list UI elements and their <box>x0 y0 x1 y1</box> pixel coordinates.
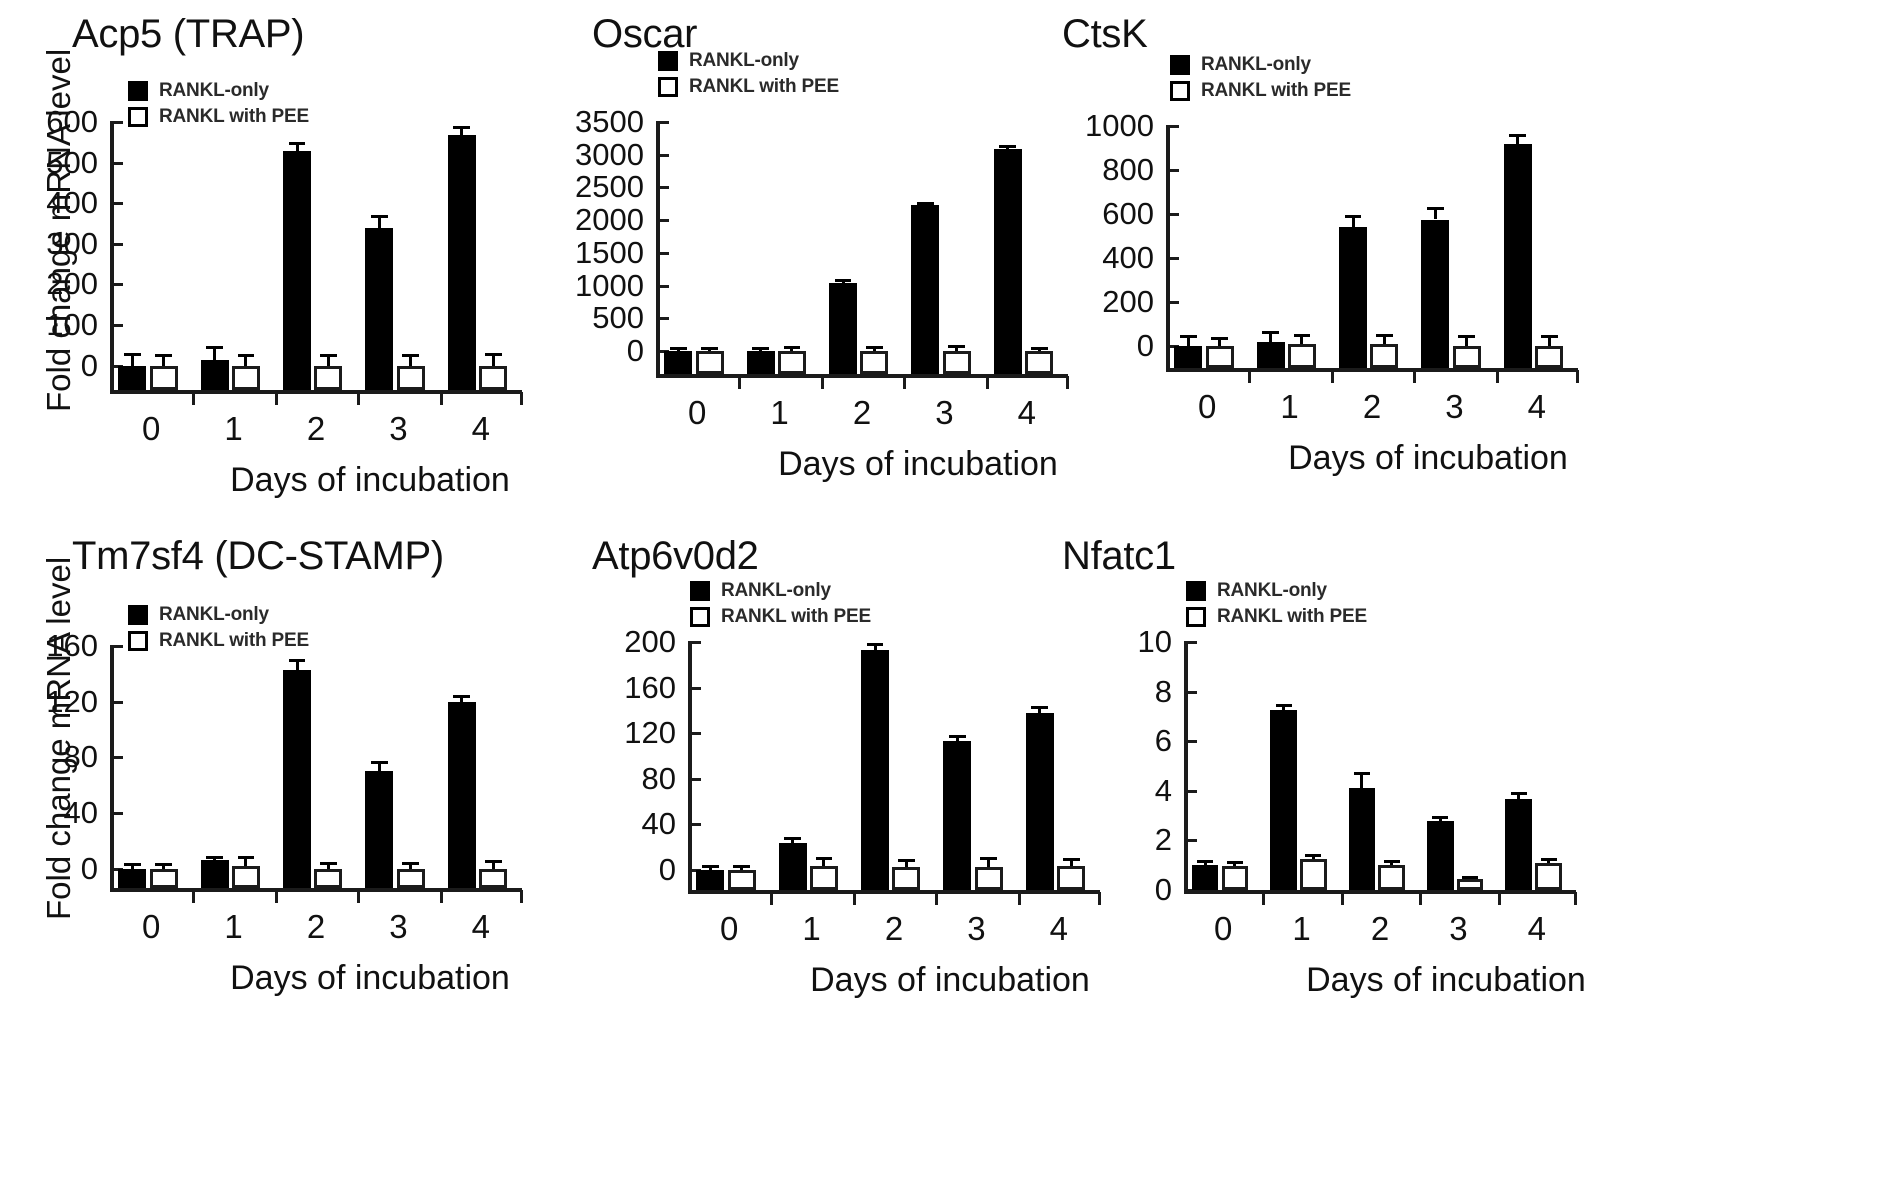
panel-title: Nfatc1 <box>1062 534 1176 578</box>
y-tick-label: 200 <box>576 626 676 657</box>
x-tick <box>520 392 523 405</box>
y-tick-label: 120 <box>576 717 676 748</box>
plot-area: 0408012016020001234 <box>688 642 1100 890</box>
legend-item-2: RANKL with PEE <box>690 604 871 630</box>
x-tick <box>1341 892 1344 905</box>
x-tick <box>1066 376 1069 389</box>
legend-label: RANKL-only <box>159 80 269 102</box>
y-tick <box>110 756 123 759</box>
x-tick-label: 3 <box>1419 912 1497 945</box>
y-tick-label: 2000 <box>544 204 644 235</box>
y-tick-label: 0 <box>1054 330 1154 361</box>
error-bar-cap <box>485 860 502 863</box>
x-tick-label: 2 <box>1341 912 1419 945</box>
y-tick-label: 4 <box>1072 775 1172 806</box>
x-tick <box>192 890 195 903</box>
plot-area: 0200400600800100001234 <box>1166 126 1578 368</box>
panel-title: Acp5 (TRAP) <box>72 12 304 56</box>
legend-label: RANKL-only <box>721 580 831 602</box>
error-bar-cap <box>155 354 172 357</box>
y-tick <box>110 645 123 648</box>
y-tick-label: 3500 <box>544 106 644 137</box>
x-axis-label: Days of incubation <box>170 462 570 498</box>
y-axis-line <box>110 646 114 888</box>
legend-swatch-filled-icon <box>128 605 148 625</box>
error-bar-cap <box>898 859 915 862</box>
x-tick-label: 4 <box>986 396 1068 429</box>
x-tick-label: 1 <box>1262 912 1340 945</box>
y-tick-label: 0 <box>544 335 644 366</box>
error-bar-cap <box>155 863 172 866</box>
legend-item-1: RANKL-only <box>690 578 871 604</box>
x-tick <box>275 890 278 903</box>
y-tick <box>688 732 701 735</box>
x-tick-label: 2 <box>853 912 935 945</box>
bar-rankl-only <box>994 149 1022 374</box>
bar-rankl-with-pee <box>1222 866 1249 890</box>
x-tick-label: 2 <box>275 412 357 445</box>
y-axis-line <box>1166 126 1170 368</box>
y-tick <box>110 701 123 704</box>
y-tick-label: 500 <box>544 302 644 333</box>
y-tick-label: 120 <box>0 686 98 717</box>
bar-rankl-only <box>1339 227 1367 368</box>
legend-label: RANKL-only <box>1201 54 1311 76</box>
bar-rankl-with-pee <box>1535 863 1562 890</box>
legend-label: RANKL-only <box>689 50 799 72</box>
bar-rankl-with-pee <box>150 869 178 888</box>
error-bar-cap <box>784 346 801 349</box>
bar-rankl-only <box>1427 821 1454 890</box>
legend-swatch-filled-icon <box>1186 581 1206 601</box>
x-tick <box>738 376 741 389</box>
x-axis-line <box>1184 890 1576 894</box>
y-tick-label: 200 <box>0 268 98 299</box>
error-bar-cap <box>1211 337 1228 340</box>
error-bar-cap <box>320 862 337 865</box>
legend-item-1: RANKL-only <box>658 48 839 74</box>
chart-legend: RANKL-onlyRANKL with PEE <box>690 578 871 630</box>
error-bar-cap <box>670 347 687 350</box>
bar-rankl-only <box>118 869 146 888</box>
bar-rankl-with-pee <box>728 870 756 890</box>
bar-rankl-only <box>365 228 393 390</box>
legend-item-1: RANKL-only <box>1170 52 1351 78</box>
y-tick-label: 10 <box>1072 626 1172 657</box>
x-tick-label: 3 <box>357 910 439 943</box>
legend-label: RANKL with PEE <box>689 76 839 98</box>
panel-title: CtsK <box>1062 12 1147 56</box>
error-bar-cap <box>1541 335 1558 338</box>
bar-rankl-with-pee <box>150 366 178 390</box>
y-tick <box>656 154 669 157</box>
legend-label: RANKL-only <box>1217 580 1327 602</box>
x-tick <box>903 376 906 389</box>
y-tick <box>110 812 123 815</box>
y-tick <box>1166 125 1179 128</box>
bar-rankl-with-pee <box>397 366 425 390</box>
error-bar-cap <box>948 345 965 348</box>
bar-rankl-only <box>365 771 393 888</box>
error-bar-cap <box>402 862 419 865</box>
y-tick <box>110 324 123 327</box>
y-tick-label: 40 <box>576 808 676 839</box>
bar-rankl-with-pee <box>1378 865 1405 890</box>
x-tick <box>1496 370 1499 383</box>
legend-swatch-filled-icon <box>658 51 678 71</box>
error-bar-cap <box>752 347 769 350</box>
y-tick <box>1166 257 1179 260</box>
x-tick-label: 3 <box>1413 390 1495 423</box>
bar-rankl-with-pee <box>1535 346 1563 368</box>
legend-label: RANKL with PEE <box>721 606 871 628</box>
plot-area: 050010001500200025003000350001234 <box>656 122 1068 374</box>
panel-title: Tm7sf4 (DC-STAMP) <box>72 534 444 578</box>
bar-rankl-with-pee <box>778 351 806 374</box>
bar-rankl-with-pee <box>397 869 425 888</box>
y-tick <box>688 641 701 644</box>
error-bar-cap <box>701 347 718 350</box>
error-bar-cap <box>206 856 223 859</box>
bar-rankl-with-pee <box>1453 346 1481 368</box>
error-bar-cap <box>1031 347 1048 350</box>
x-tick <box>770 892 773 905</box>
error-bar-cap <box>238 354 255 357</box>
x-tick-label: 4 <box>1498 912 1576 945</box>
x-tick-label: 0 <box>1166 390 1248 423</box>
bar-rankl-with-pee <box>860 351 888 374</box>
y-tick <box>1184 740 1197 743</box>
bar-rankl-only <box>201 360 229 390</box>
y-axis-line <box>1184 642 1188 890</box>
bar-rankl-only <box>861 650 889 890</box>
y-tick <box>1184 691 1197 694</box>
error-bar-cap <box>371 761 388 764</box>
x-tick-label: 1 <box>192 412 274 445</box>
y-tick <box>110 121 123 124</box>
x-tick <box>440 392 443 405</box>
y-axis-line <box>656 122 660 374</box>
bar-rankl-only <box>118 366 146 390</box>
y-tick-label: 300 <box>0 228 98 259</box>
bar-rankl-with-pee <box>479 366 507 390</box>
error-bar-cap <box>453 695 470 698</box>
bar-rankl-with-pee <box>892 867 920 890</box>
y-tick-label: 600 <box>1054 198 1154 229</box>
y-tick-label: 0 <box>1072 874 1172 905</box>
bar-rankl-only <box>283 670 311 888</box>
x-tick-label: 0 <box>110 910 192 943</box>
x-tick-label: 4 <box>1496 390 1578 423</box>
y-tick <box>110 202 123 205</box>
legend-swatch-filled-icon <box>690 581 710 601</box>
x-tick <box>1413 370 1416 383</box>
y-tick-label: 0 <box>576 854 676 885</box>
error-bar-cap <box>1354 772 1370 775</box>
legend-item-1: RANKL-only <box>1186 578 1367 604</box>
legend-item-2: RANKL with PEE <box>658 74 839 100</box>
bar-rankl-with-pee <box>1457 879 1484 890</box>
y-tick-label: 600 <box>0 106 98 137</box>
bar-rankl-only <box>1174 346 1202 368</box>
y-tick-label: 80 <box>576 763 676 794</box>
x-tick-label: 0 <box>688 912 770 945</box>
bar-rankl-with-pee <box>696 351 724 374</box>
legend-swatch-open-icon <box>658 77 678 97</box>
x-tick-label: 2 <box>1331 390 1413 423</box>
error-bar-cap <box>702 865 719 868</box>
error-bar-cap <box>238 856 255 859</box>
bar-rankl-with-pee <box>1206 346 1234 368</box>
y-tick <box>656 121 669 124</box>
error-bar-cap <box>1384 860 1400 863</box>
error-bar-cap <box>371 215 388 218</box>
y-tick-label: 1500 <box>544 237 644 268</box>
bar-rankl-only <box>911 205 939 374</box>
plot-area: 0408012016001234 <box>110 646 522 888</box>
bar-rankl-only <box>1349 788 1376 890</box>
bar-rankl-with-pee <box>314 869 342 888</box>
error-bar-cap <box>1227 861 1243 864</box>
bar-rankl-only <box>664 351 692 374</box>
x-tick <box>1419 892 1422 905</box>
y-tick <box>1184 839 1197 842</box>
legend-swatch-open-icon <box>690 607 710 627</box>
x-tick-label: 3 <box>357 412 439 445</box>
y-axis-line <box>688 642 692 890</box>
y-tick <box>110 283 123 286</box>
x-tick <box>192 392 195 405</box>
chart-panel-4: Tm7sf4 (DC-STAMP)RANKL-onlyRANKL with PE… <box>0 520 620 1040</box>
error-bar-cap <box>866 346 883 349</box>
error-bar-cap <box>1345 215 1362 218</box>
y-tick <box>1166 301 1179 304</box>
legend-swatch-open-icon <box>1170 81 1190 101</box>
error-bar-cap <box>835 279 852 282</box>
bar-rankl-with-pee <box>479 869 507 888</box>
bar-rankl-with-pee <box>943 351 971 374</box>
error-bar-cap <box>1509 134 1526 137</box>
y-tick <box>656 317 669 320</box>
error-bar-cap <box>784 837 801 840</box>
chart-legend: RANKL-onlyRANKL with PEE <box>1170 52 1351 104</box>
bar-rankl-only <box>747 351 775 374</box>
chart-legend: RANKL-onlyRANKL with PEE <box>1186 578 1367 630</box>
y-tick <box>1184 790 1197 793</box>
plot-area: 010020030040050060001234 <box>110 122 522 390</box>
legend-swatch-filled-icon <box>128 81 148 101</box>
x-axis-label: Days of incubation <box>1228 440 1628 476</box>
error-bar-cap <box>1511 792 1527 795</box>
error-bar-cap <box>1180 335 1197 338</box>
y-tick-label: 6 <box>1072 725 1172 756</box>
bar-rankl-with-pee <box>314 366 342 390</box>
error-bar-cap <box>402 354 419 357</box>
x-tick <box>853 892 856 905</box>
x-tick <box>821 376 824 389</box>
error-bar-cap <box>289 142 306 145</box>
y-tick <box>656 186 669 189</box>
legend-label: RANKL with PEE <box>1201 80 1351 102</box>
legend-label: RANKL-only <box>159 604 269 626</box>
error-bar-cap <box>980 857 997 860</box>
y-tick-label: 160 <box>576 672 676 703</box>
y-tick <box>1184 641 1197 644</box>
chart-panel-6: Nfatc1RANKL-onlyRANKL with PEE0246810012… <box>1070 520 1690 1040</box>
error-bar-cap <box>1376 334 1393 337</box>
y-tick <box>656 219 669 222</box>
y-tick-label: 1000 <box>1054 110 1154 141</box>
bar-rankl-only <box>1257 342 1285 368</box>
x-axis-line <box>656 374 1068 378</box>
x-tick <box>1262 892 1265 905</box>
x-tick-label: 2 <box>821 396 903 429</box>
error-bar-cap <box>867 643 884 646</box>
legend-swatch-filled-icon <box>1170 55 1190 75</box>
x-tick-label: 1 <box>1248 390 1330 423</box>
error-bar-cap <box>1276 704 1292 707</box>
x-tick <box>1576 370 1579 383</box>
x-axis-line <box>110 390 522 394</box>
x-tick-label: 4 <box>440 910 522 943</box>
y-tick-label: 200 <box>1054 286 1154 317</box>
figure-root: Acp5 (TRAP)RANKL-onlyRANKL with PEEFold … <box>0 0 1890 1204</box>
x-tick-label: 3 <box>903 396 985 429</box>
legend-item-1: RANKL-only <box>128 602 309 628</box>
legend-item-2: RANKL with PEE <box>1170 78 1351 104</box>
y-tick-label: 0 <box>0 350 98 381</box>
y-tick-label: 100 <box>0 309 98 340</box>
x-tick-label: 1 <box>738 396 820 429</box>
x-tick-label: 0 <box>110 412 192 445</box>
y-tick-label: 0 <box>0 853 98 884</box>
bar-rankl-only <box>779 843 807 890</box>
y-tick <box>688 823 701 826</box>
y-tick-label: 400 <box>0 187 98 218</box>
plot-area: 024681001234 <box>1184 642 1576 890</box>
x-tick-label: 4 <box>440 412 522 445</box>
y-tick-label: 400 <box>1054 242 1154 273</box>
error-bar-cap <box>485 353 502 356</box>
y-tick <box>688 778 701 781</box>
bar-rankl-only <box>943 741 971 890</box>
y-tick <box>656 252 669 255</box>
error-bar-cap <box>1294 334 1311 337</box>
x-tick <box>935 892 938 905</box>
error-bar-cap <box>124 353 141 356</box>
x-tick <box>1574 892 1577 905</box>
legend-label: RANKL with PEE <box>1217 606 1367 628</box>
y-tick <box>1166 169 1179 172</box>
error-bar-cap <box>733 865 750 868</box>
y-tick-label: 800 <box>1054 154 1154 185</box>
error-bar-cap <box>1458 335 1475 338</box>
error-bar-cap <box>1541 858 1557 861</box>
bar-rankl-only <box>448 135 476 390</box>
x-axis-line <box>110 888 522 892</box>
x-tick <box>1331 370 1334 383</box>
error-bar-cap <box>816 857 833 860</box>
x-tick <box>440 890 443 903</box>
y-tick-label: 80 <box>0 741 98 772</box>
x-tick <box>357 392 360 405</box>
chart-legend: RANKL-onlyRANKL with PEE <box>658 48 839 100</box>
x-axis-line <box>688 890 1100 894</box>
error-bar-cap <box>124 863 141 866</box>
x-tick <box>275 392 278 405</box>
bar-rankl-with-pee <box>232 866 260 888</box>
y-tick <box>110 243 123 246</box>
error-bar-cap <box>320 354 337 357</box>
legend-item-2: RANKL with PEE <box>1186 604 1367 630</box>
bar-rankl-with-pee <box>810 866 838 890</box>
x-axis-label: Days of incubation <box>170 960 570 996</box>
error-bar-cap <box>917 202 934 205</box>
x-tick-label: 3 <box>935 912 1017 945</box>
bar-rankl-only <box>1026 713 1054 890</box>
y-tick-label: 160 <box>0 630 98 661</box>
y-tick-label: 3000 <box>544 139 644 170</box>
x-axis-label: Days of incubation <box>1246 962 1646 998</box>
error-bar-cap <box>453 126 470 129</box>
x-tick-label: 0 <box>656 396 738 429</box>
y-tick-label: 1000 <box>544 270 644 301</box>
error-bar-cap <box>999 145 1016 148</box>
bar-rankl-with-pee <box>232 366 260 390</box>
error-bar-cap <box>1427 207 1444 210</box>
x-tick-label: 0 <box>1184 912 1262 945</box>
y-tick <box>110 162 123 165</box>
y-tick-label: 500 <box>0 147 98 178</box>
bar-rankl-with-pee <box>1300 859 1327 890</box>
error-bar-cap <box>289 659 306 662</box>
bar-rankl-only <box>1421 220 1449 369</box>
x-tick-label: 1 <box>192 910 274 943</box>
x-tick <box>1018 892 1021 905</box>
error-bar-cap <box>1197 860 1213 863</box>
x-tick <box>1498 892 1501 905</box>
error-bar-cap <box>206 346 223 349</box>
y-tick-label: 2500 <box>544 171 644 202</box>
panel-title: Atp6v0d2 <box>592 534 759 578</box>
error-bar-cap <box>949 735 966 738</box>
x-axis-line <box>1166 368 1578 372</box>
bar-rankl-with-pee <box>1370 344 1398 368</box>
bar-rankl-only <box>201 860 229 888</box>
x-tick-label: 2 <box>275 910 357 943</box>
error-bar-cap <box>1305 854 1321 857</box>
bar-rankl-with-pee <box>1288 344 1316 368</box>
x-tick-label: 1 <box>770 912 852 945</box>
y-tick <box>1166 213 1179 216</box>
error-bar-cap <box>1432 816 1448 819</box>
x-tick <box>986 376 989 389</box>
x-tick <box>520 890 523 903</box>
x-tick <box>1248 370 1251 383</box>
bar-rankl-only <box>448 702 476 888</box>
bar-rankl-only <box>696 870 724 890</box>
bar-rankl-only <box>1504 144 1532 368</box>
legend-swatch-open-icon <box>1186 607 1206 627</box>
x-axis-label: Days of incubation <box>718 446 1118 482</box>
bar-rankl-only <box>1270 710 1297 890</box>
y-tick <box>688 687 701 690</box>
error-bar-cap <box>1462 876 1478 879</box>
chart-panel-1: Acp5 (TRAP)RANKL-onlyRANKL with PEEFold … <box>0 0 620 520</box>
bar-rankl-with-pee <box>1025 351 1053 374</box>
error-bar-cap <box>1031 706 1048 709</box>
bar-rankl-only <box>1505 799 1532 890</box>
